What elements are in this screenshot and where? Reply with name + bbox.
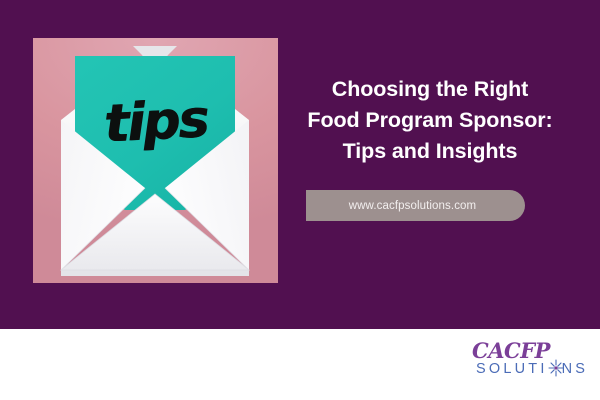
title-line-1: Choosing the Right [296,74,564,105]
logo-solutions-prefix: SOLUTI [476,361,548,377]
starburst-icon-svg [548,359,564,377]
page-title: Choosing the Right Food Program Sponsor:… [296,74,564,167]
title-line-2: Food Program Sponsor: [296,105,564,136]
logo-solutions-suffix: NS [562,361,589,377]
envelope-photo: tips [33,38,278,283]
title-line-3: Tips and Insights [296,136,564,167]
starburst-icon [548,361,562,375]
promotional-graphic: tips Choosing the Right Food Program Spo… [0,0,600,400]
logo-wordmark-cacfp: CACFP [472,340,550,361]
envelope-illustration [33,38,278,283]
website-url-pill[interactable]: www.cacfpsolutions.com [306,190,525,221]
logo-wordmark-solutions: SOLUTINS [476,361,588,377]
cacfp-solutions-logo: CACFP SOLUTINS [466,342,590,386]
website-url-text: www.cacfpsolutions.com [349,200,482,212]
